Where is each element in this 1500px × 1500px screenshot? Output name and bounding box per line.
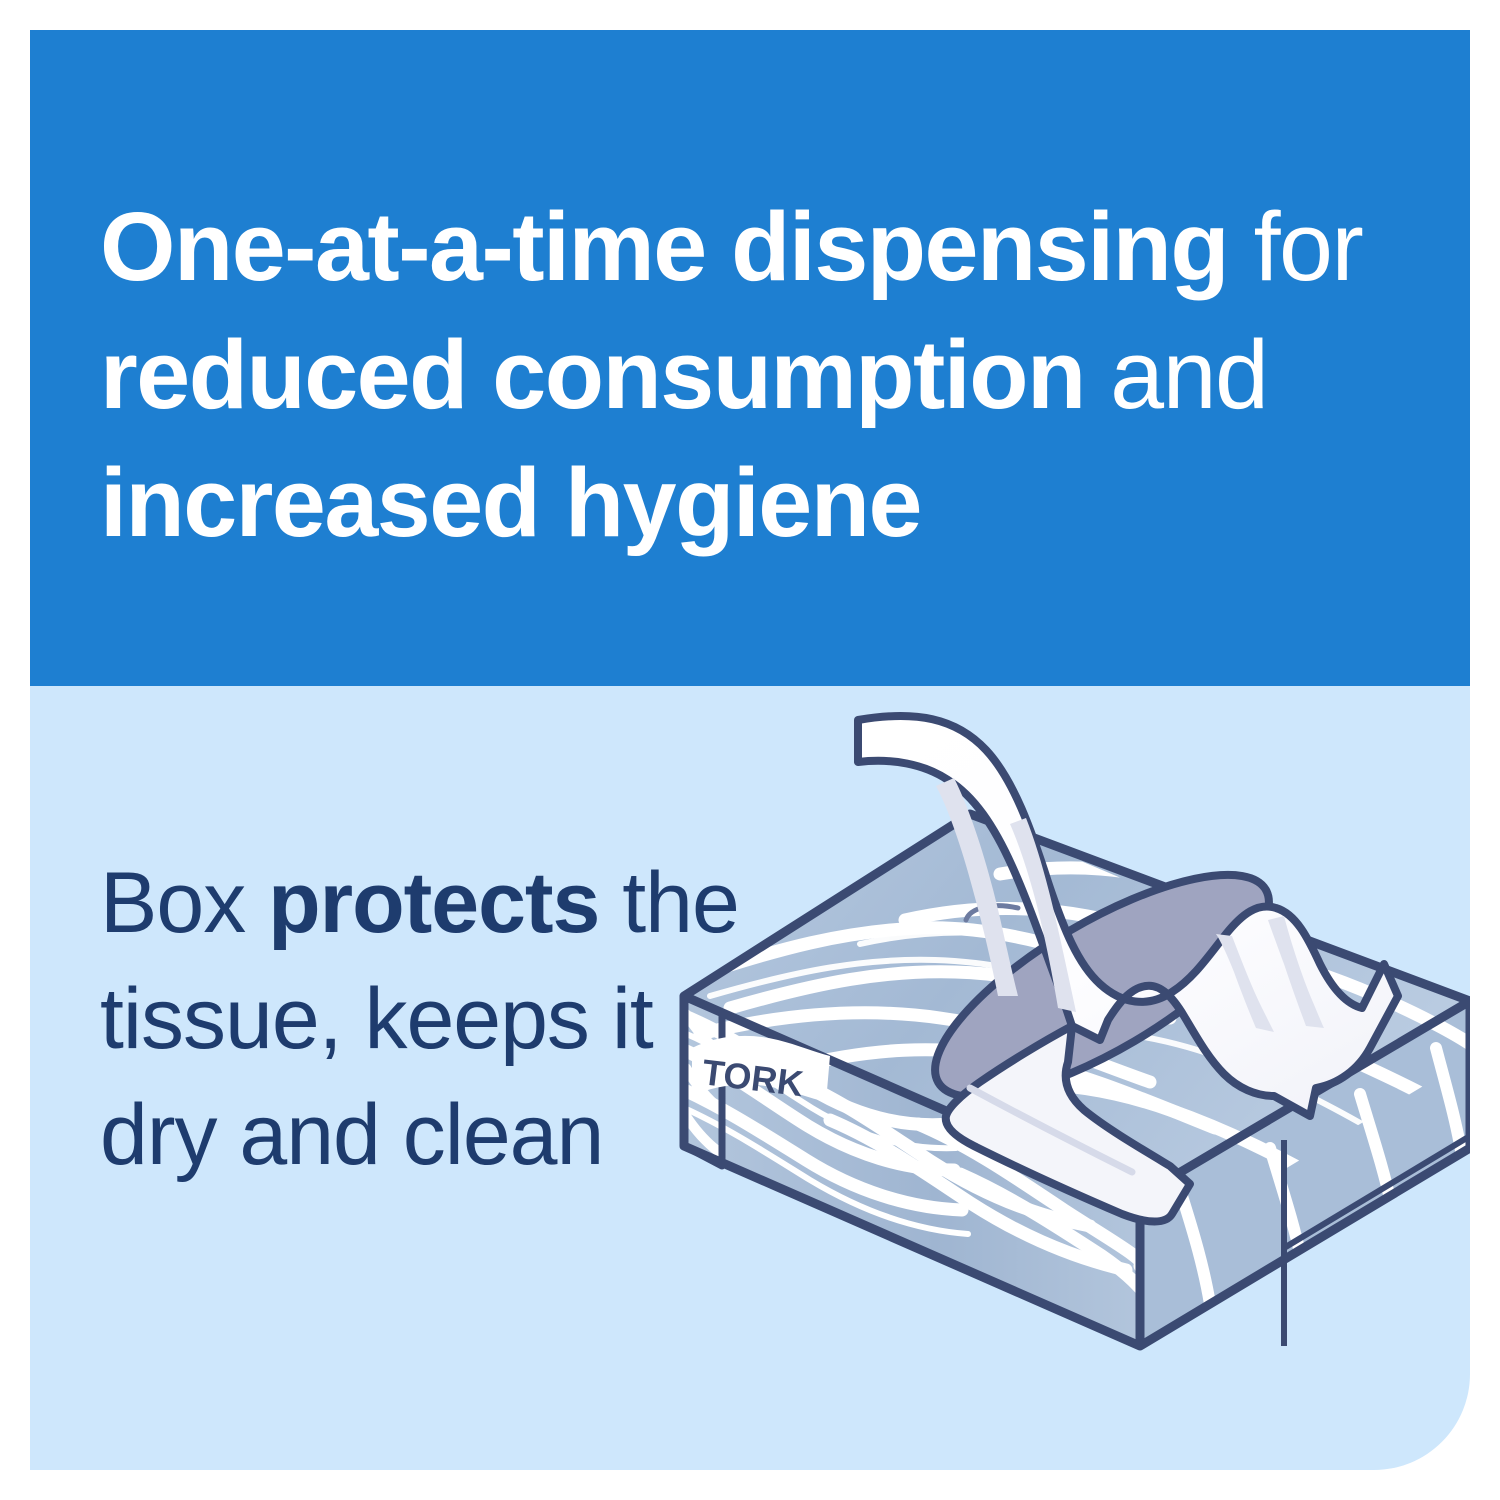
headline-part-3: for <box>1254 192 1363 301</box>
headline-part-4: reduced consumption <box>100 320 1110 429</box>
headline-part-1: One-at-a-time <box>100 192 706 301</box>
subhead-part-2: protects <box>268 855 599 951</box>
headline-part-6: increased hygiene <box>100 448 921 557</box>
headline-part-2: dispensing <box>706 192 1254 301</box>
headline-part-5: and <box>1110 320 1267 429</box>
feature-panel: Box protects the tissue, keeps it dry an… <box>30 686 1470 1470</box>
tissue-box-svg: TORK <box>670 696 1470 1396</box>
headline-panel: One-at-a-time dispensing for reduced con… <box>30 30 1470 686</box>
subhead-text: Box protects the tissue, keeps it dry an… <box>100 845 740 1193</box>
promo-image: One-at-a-time dispensing for reduced con… <box>0 0 1500 1500</box>
headline-text: One-at-a-time dispensing for reduced con… <box>100 183 1450 567</box>
subhead-part-1: Box <box>100 855 268 951</box>
tissue-box-illustration: TORK <box>670 696 1470 1396</box>
